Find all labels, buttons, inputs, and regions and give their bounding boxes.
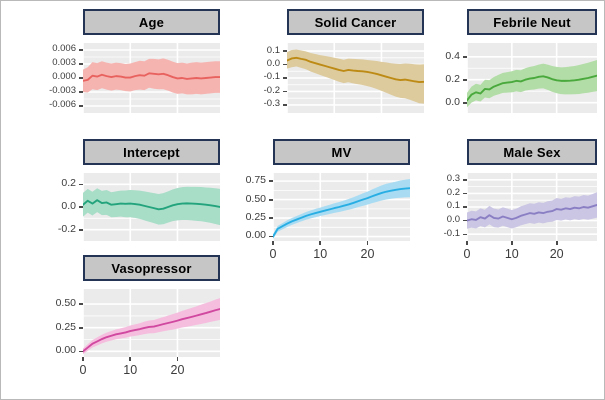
xtick-label-vasopressor-2: 20 (157, 364, 197, 377)
ytick-mark-mv-2 (269, 217, 273, 219)
ytick-label-solid-cancer-4: -0.3 (220, 99, 280, 109)
ytick-mark-vasopressor-0 (79, 303, 83, 305)
panel-title-age: Age (83, 9, 220, 35)
ytick-mark-febrile-neut-1 (463, 79, 467, 81)
ytick-label-male-sex-4: -0.1 (400, 229, 460, 239)
ytick-mark-male-sex-2 (463, 206, 467, 208)
chart-male-sex (467, 173, 597, 241)
xtick-label-mv-1: 10 (300, 248, 340, 261)
ytick-mark-mv-3 (269, 236, 273, 238)
xtick-label-male-sex-2: 20 (537, 248, 577, 261)
xtick-mark-vasopressor-1 (129, 357, 131, 361)
ytick-mark-vasopressor-1 (79, 327, 83, 329)
ytick-mark-age-4 (79, 105, 83, 107)
ytick-label-mv-0: 0.75 (206, 175, 266, 186)
ytick-label-febrile-neut-0: 0.4 (400, 51, 460, 62)
figure-panel-grid: Age0.0060.0030.000-0.003-0.006Solid Canc… (0, 0, 605, 400)
ytick-mark-mv-0 (269, 180, 273, 182)
xtick-mark-mv-1 (319, 241, 321, 245)
ytick-mark-intercept-1 (79, 206, 83, 208)
ytick-mark-male-sex-1 (463, 193, 467, 195)
chart-febrile-neut (467, 43, 597, 113)
ytick-label-age-2: 0.000 (16, 72, 76, 82)
xtick-mark-male-sex-0 (466, 241, 468, 245)
ytick-label-febrile-neut-2: 0.0 (400, 97, 460, 108)
ytick-mark-solid-cancer-2 (283, 77, 287, 79)
ytick-mark-age-1 (79, 63, 83, 65)
ytick-mark-solid-cancer-1 (283, 64, 287, 66)
chart-mv (273, 173, 410, 241)
ytick-label-age-0: 0.006 (16, 44, 76, 54)
ytick-mark-solid-cancer-3 (283, 91, 287, 93)
xtick-label-mv-2: 20 (347, 248, 387, 261)
panel-title-vasopressor: Vasopressor (83, 255, 220, 281)
panel-title-febrile-neut: Febrile Neut (467, 9, 597, 35)
xtick-label-vasopressor-1: 10 (110, 364, 150, 377)
panel-title-intercept: Intercept (83, 139, 220, 165)
plot-area-mv (273, 173, 410, 241)
ytick-label-age-1: 0.003 (16, 58, 76, 68)
plot-area-vasopressor (83, 289, 220, 357)
ytick-mark-febrile-neut-2 (463, 102, 467, 104)
ytick-mark-male-sex-3 (463, 220, 467, 222)
ytick-label-mv-2: 0.25 (206, 212, 266, 223)
plot-area-male-sex (467, 173, 597, 241)
ytick-label-age-3: -0.003 (16, 86, 76, 96)
ytick-label-solid-cancer-3: -0.2 (220, 86, 280, 96)
ytick-mark-male-sex-0 (463, 179, 467, 181)
ytick-label-febrile-neut-1: 0.2 (400, 74, 460, 85)
ytick-label-solid-cancer-1: 0.0 (220, 59, 280, 69)
ytick-label-solid-cancer-2: -0.1 (220, 72, 280, 82)
ytick-mark-febrile-neut-0 (463, 56, 467, 58)
ytick-label-age-4: -0.006 (16, 100, 76, 110)
ytick-label-solid-cancer-0: 0.1 (220, 46, 280, 56)
ytick-label-mv-3: 0.00 (206, 230, 266, 241)
ytick-mark-mv-1 (269, 199, 273, 201)
panel-title-mv: MV (273, 139, 410, 165)
ytick-label-vasopressor-1: 0.25 (16, 322, 76, 333)
ytick-mark-vasopressor-2 (79, 351, 83, 353)
xtick-mark-mv-0 (272, 241, 274, 245)
ytick-mark-solid-cancer-4 (283, 104, 287, 106)
ytick-mark-male-sex-4 (463, 234, 467, 236)
ytick-mark-intercept-2 (79, 229, 83, 231)
xtick-label-mv-0: 0 (253, 248, 293, 261)
ytick-label-male-sex-3: 0.0 (400, 215, 460, 225)
xtick-label-male-sex-0: 0 (447, 248, 487, 261)
xtick-mark-male-sex-2 (556, 241, 558, 245)
ytick-mark-solid-cancer-0 (283, 50, 287, 52)
panel-title-solid-cancer: Solid Cancer (287, 9, 424, 35)
ytick-label-intercept-0: 0.2 (16, 178, 76, 189)
ytick-mark-age-0 (79, 49, 83, 51)
ytick-mark-intercept-0 (79, 184, 83, 186)
ytick-label-mv-1: 0.50 (206, 194, 266, 205)
xtick-mark-mv-2 (367, 241, 369, 245)
plot-area-intercept (83, 173, 220, 241)
chart-age (83, 43, 220, 113)
xtick-label-male-sex-1: 10 (492, 248, 532, 261)
plot-area-febrile-neut (467, 43, 597, 113)
ytick-label-vasopressor-0: 0.50 (16, 298, 76, 309)
ytick-mark-age-3 (79, 91, 83, 93)
plot-area-age (83, 43, 220, 113)
ytick-label-vasopressor-2: 0.00 (16, 345, 76, 356)
chart-intercept (83, 173, 220, 241)
xtick-label-vasopressor-0: 0 (63, 364, 103, 377)
ytick-label-male-sex-1: 0.2 (400, 188, 460, 198)
xtick-mark-vasopressor-0 (82, 357, 84, 361)
ytick-mark-age-2 (79, 77, 83, 79)
xtick-mark-vasopressor-2 (177, 357, 179, 361)
panel-title-male-sex: Male Sex (467, 139, 597, 165)
ytick-label-male-sex-2: 0.1 (400, 201, 460, 211)
chart-vasopressor (83, 289, 220, 357)
ytick-label-male-sex-0: 0.3 (400, 174, 460, 184)
ytick-label-intercept-1: 0.0 (16, 201, 76, 212)
xtick-mark-male-sex-1 (511, 241, 513, 245)
ytick-label-intercept-2: -0.2 (16, 224, 76, 235)
